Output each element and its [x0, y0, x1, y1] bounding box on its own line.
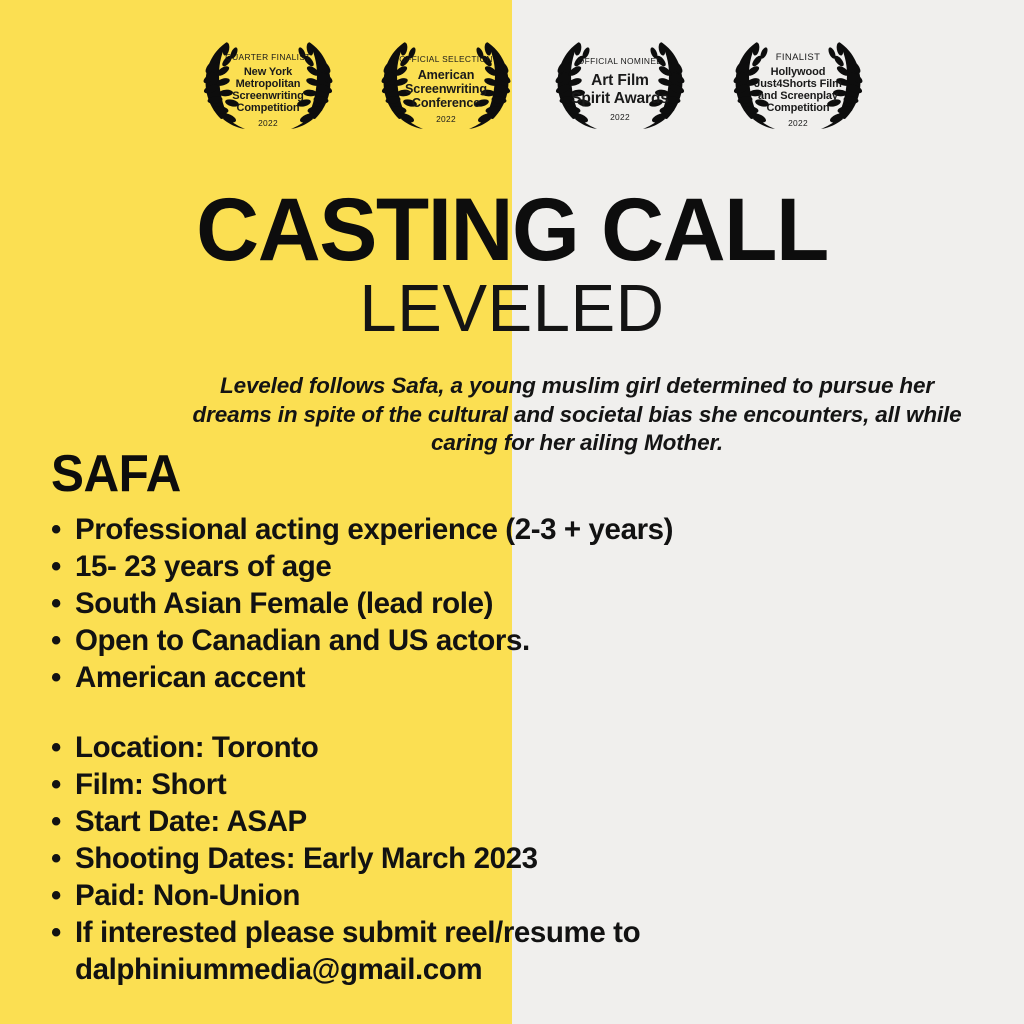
list-item-label: American accent [75, 659, 831, 696]
list-item: • South Asian Female (lead role) [51, 585, 831, 622]
laurel-line: and Screenplay [758, 90, 839, 102]
list-item-label: 15- 23 years of age [75, 548, 831, 585]
list-item: • American accent [51, 659, 831, 696]
requirements-list: • Professional acting experience (2-3 + … [51, 511, 831, 696]
submission-instruction: If interested please submit reel/resume … [75, 916, 640, 949]
list-item-label: Open to Canadian and US actors. [75, 622, 831, 659]
list-item-label: South Asian Female (lead role) [75, 585, 831, 622]
list-item: • 15- 23 years of age [51, 548, 831, 585]
list-item: • Open to Canadian and US actors. [51, 622, 831, 659]
list-item-label: Shooting Dates: Early March 2023 [75, 840, 831, 877]
laurel-line: Competition [236, 102, 299, 114]
page-title: CASTING CALL [10, 183, 1014, 275]
laurel-line: Art Film [591, 72, 649, 89]
laurel-badge: QUARTER FINALIST New York Metropolitan S… [193, 33, 343, 133]
list-item-label: Film: Short [75, 766, 831, 803]
list-item-label: Location: Toronto [75, 729, 831, 766]
list-item: • Location: Toronto [51, 729, 831, 766]
laurel-line: Conference [412, 96, 480, 110]
film-title: LEVELED [0, 275, 1024, 343]
laurel-badge: OFFICIAL NOMINEE Art Film Spirit Awards … [545, 33, 695, 133]
laurel-year: 2022 [258, 118, 278, 128]
laurel-line: New York [244, 66, 293, 78]
list-item: • Paid: Non-Union [51, 877, 831, 914]
list-item-submission: • If interested please submit reel/resum… [51, 914, 831, 988]
laurel-line: Screenwriting [232, 90, 303, 102]
laurel-line: Just4Shorts Film [754, 78, 842, 90]
laurel-year: 2022 [610, 112, 630, 122]
laurel-year: 2022 [436, 114, 456, 124]
list-item: • Start Date: ASAP [51, 803, 831, 840]
bullet-dot-icon: • [51, 622, 75, 659]
laurel-line: American [418, 68, 475, 82]
bullet-dot-icon: • [51, 914, 75, 951]
list-item-label: Start Date: ASAP [75, 803, 831, 840]
list-item-label: Paid: Non-Union [75, 877, 831, 914]
laurel-line: Spirit Awards [571, 90, 669, 107]
submission-block: If interested please submit reel/resume … [75, 914, 831, 988]
list-item: • Shooting Dates: Early March 2023 [51, 840, 831, 877]
bullet-dot-icon: • [51, 659, 75, 696]
bullet-dot-icon: • [51, 548, 75, 585]
list-item-label: Professional acting experience (2-3 + ye… [75, 511, 831, 548]
synopsis-text: Leveled follows Safa, a young muslim gir… [182, 372, 972, 458]
list-item: • Film: Short [51, 766, 831, 803]
submission-email[interactable]: dalphiniummedia@gmail.com [75, 951, 831, 988]
production-details-list: • Location: Toronto • Film: Short • Star… [51, 729, 831, 988]
bullet-dot-icon: • [51, 840, 75, 877]
bullet-dot-icon: • [51, 729, 75, 766]
laurel-badge: FINALIST Hollywood Just4Shorts Film and … [723, 33, 873, 133]
laurel-top-label: QUARTER FINALIST [225, 52, 311, 62]
laurel-badge: OFFICIAL SELECTION American Screenwritin… [371, 33, 521, 133]
bullet-dot-icon: • [51, 766, 75, 803]
list-item: • Professional acting experience (2-3 + … [51, 511, 831, 548]
laurel-top-label: OFFICIAL SELECTION [399, 54, 492, 64]
role-heading: SAFA [51, 447, 181, 501]
bullet-dot-icon: • [51, 511, 75, 548]
bullet-dot-icon: • [51, 877, 75, 914]
laurel-line: Hollywood [771, 66, 826, 78]
laurel-line: Screenwriting [405, 82, 487, 96]
bullet-dot-icon: • [51, 803, 75, 840]
casting-call-poster: QUARTER FINALIST New York Metropolitan S… [0, 0, 1024, 1024]
laurel-year: 2022 [788, 118, 808, 128]
laurel-line: Metropolitan [236, 78, 301, 90]
laurel-line: Competition [766, 102, 829, 114]
laurel-top-label: FINALIST [776, 52, 821, 63]
bullet-dot-icon: • [51, 585, 75, 622]
laurel-top-label: OFFICIAL NOMINEE [578, 56, 662, 66]
festival-laurels-row: QUARTER FINALIST New York Metropolitan S… [0, 33, 1024, 133]
